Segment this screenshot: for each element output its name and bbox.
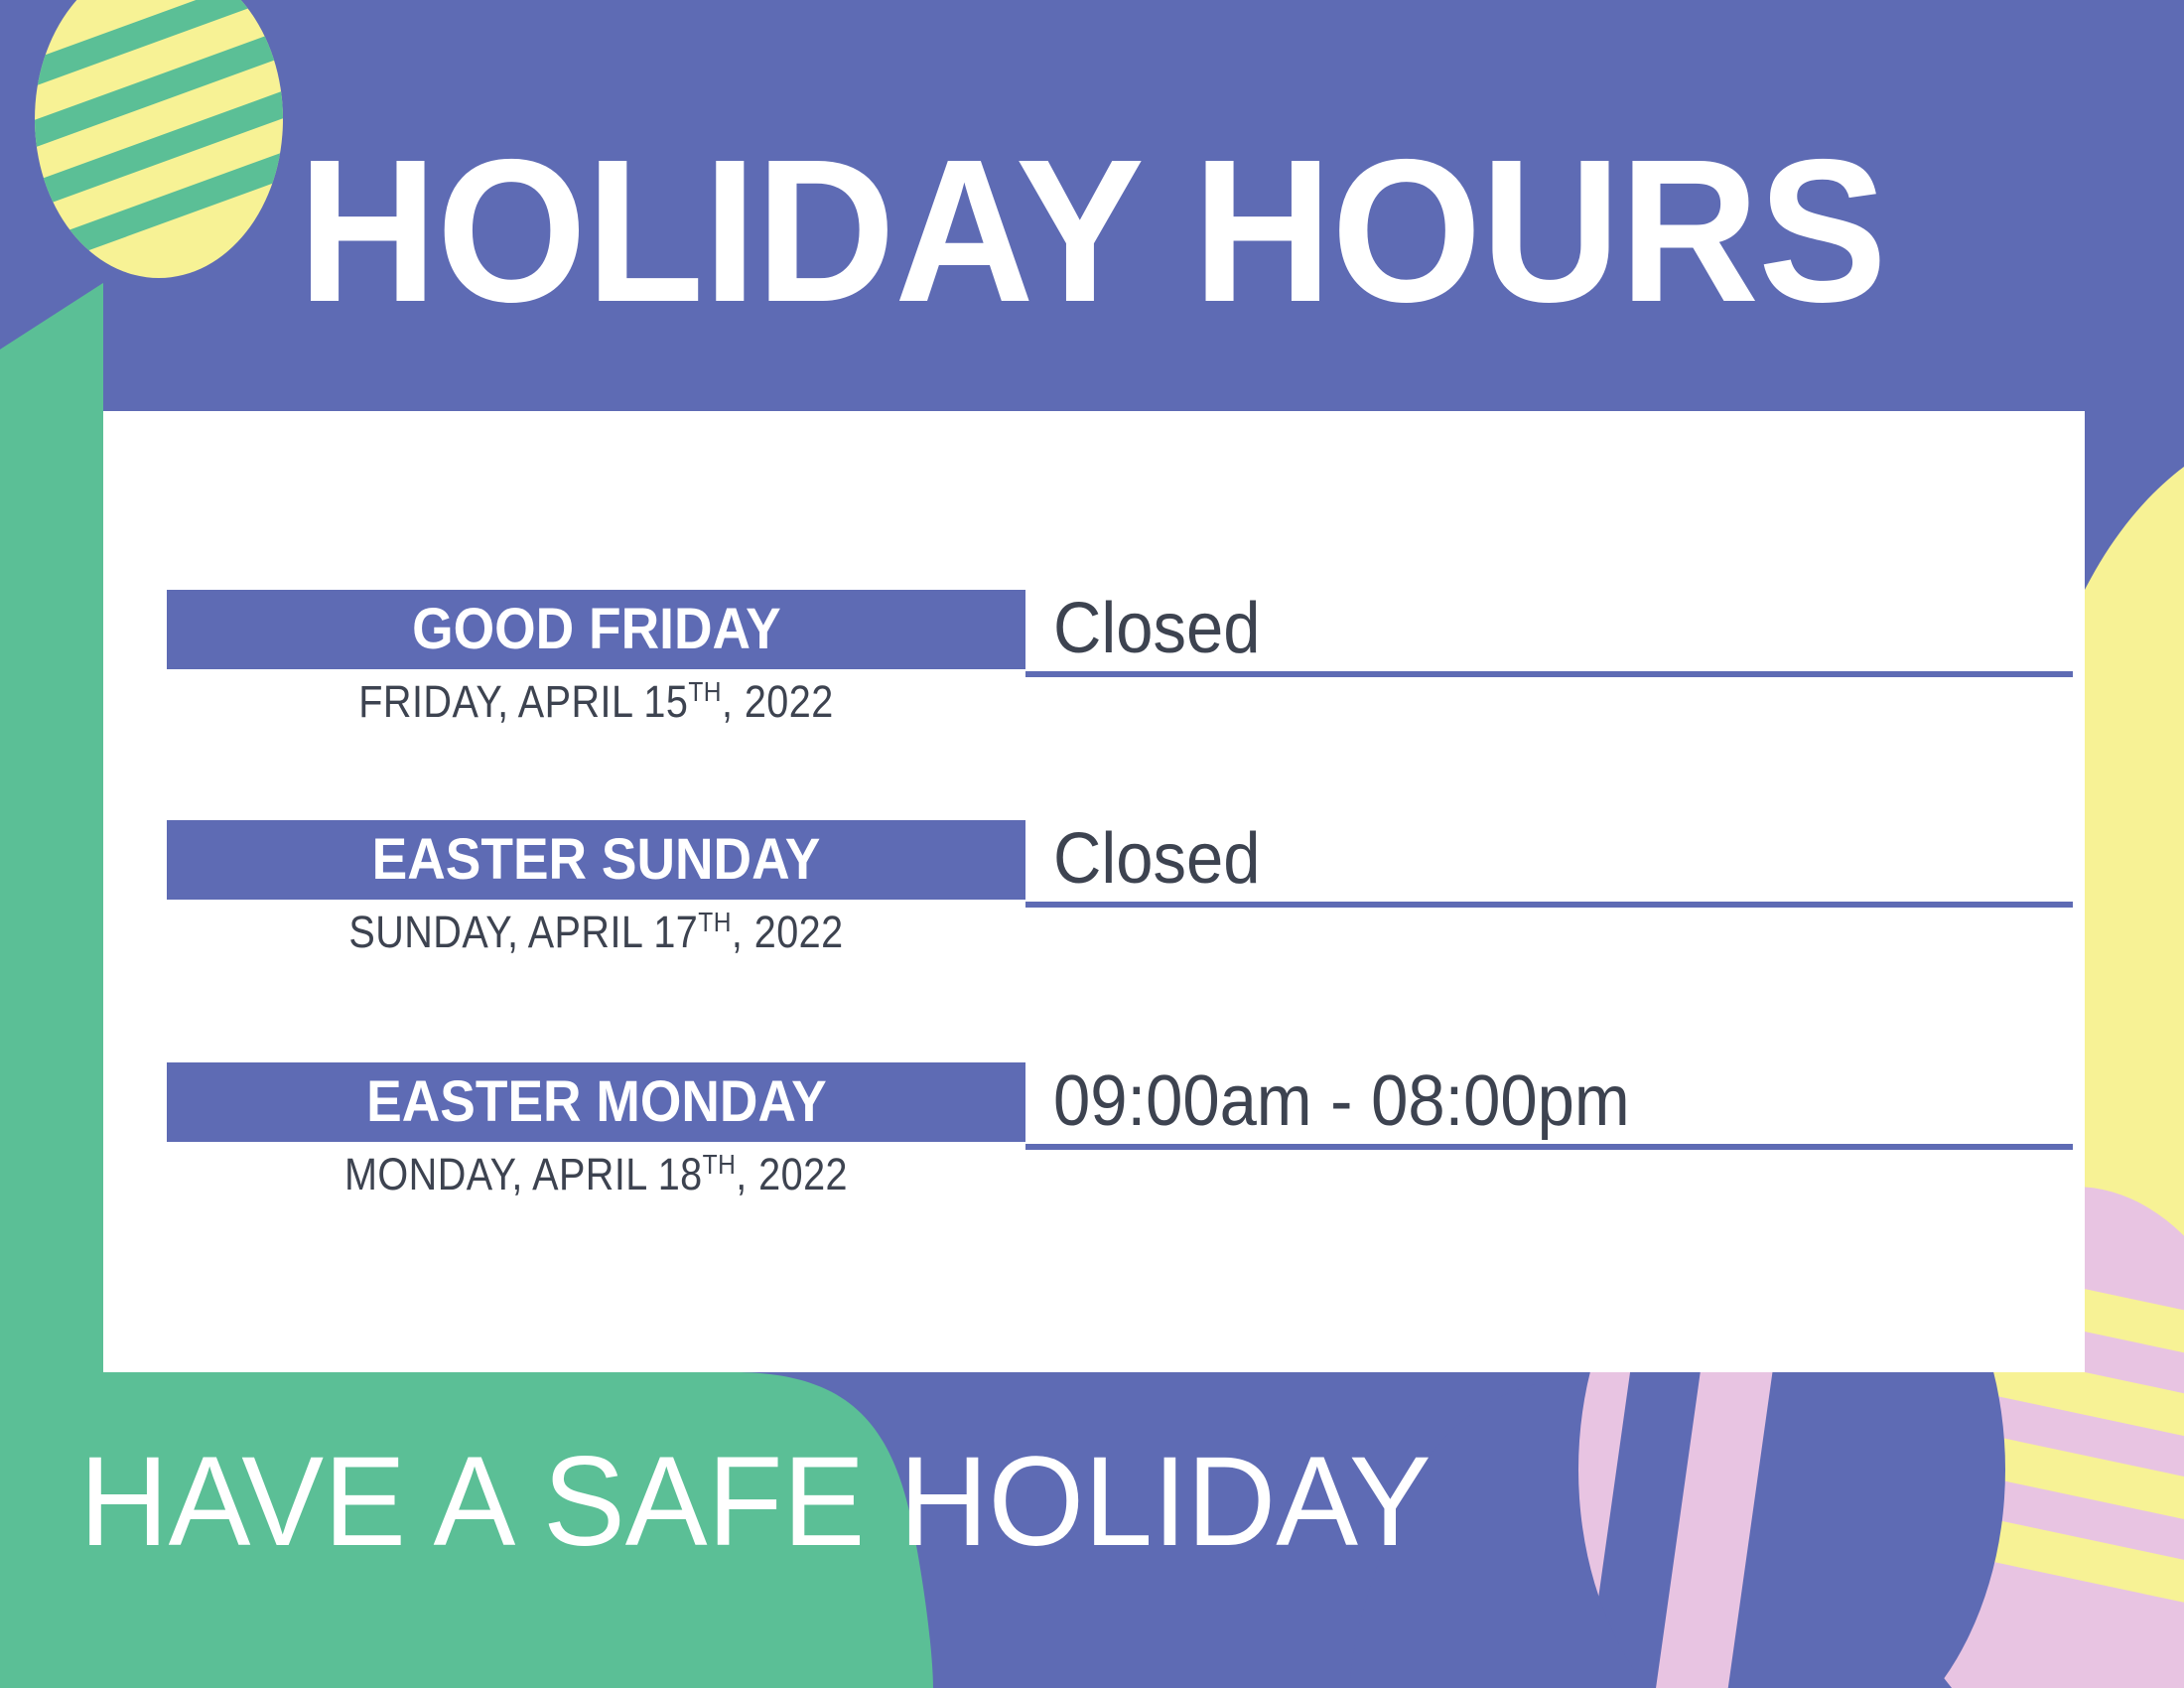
page-title: HOLIDAY HOURS: [298, 117, 1826, 346]
day-date: SUNDAY, APRIL 17TH, 2022: [218, 904, 974, 961]
day-date: MONDAY, APRIL 18TH, 2022: [218, 1146, 974, 1203]
day-hours-underline: [1025, 1144, 2073, 1150]
day-date-suffix: , 2022: [736, 1149, 848, 1199]
day-hours-underline: [1025, 671, 2073, 677]
day-label-text: GOOD FRIDAY: [412, 599, 781, 660]
day-hours-underline: [1025, 902, 2073, 908]
schedule-row: EASTER SUNDAY SUNDAY, APRIL 17TH, 2022 C…: [103, 820, 2085, 1049]
day-date-prefix: MONDAY, APRIL 18: [344, 1149, 703, 1199]
schedule-rows: GOOD FRIDAY FRIDAY, APRIL 15TH, 2022 Clo…: [103, 411, 2085, 1372]
day-hours-field: Closed: [1025, 816, 2073, 908]
day-date-prefix: FRIDAY, APRIL 15: [358, 676, 688, 727]
day-hours-text: 09:00am - 08:00pm: [1053, 1062, 1630, 1140]
day-label-bar: EASTER MONDAY: [167, 1062, 1025, 1142]
footer-message: HAVE A SAFE HOLIDAY: [79, 1433, 1581, 1572]
day-label-text: EASTER MONDAY: [366, 1071, 827, 1133]
schedule-row: GOOD FRIDAY FRIDAY, APRIL 15TH, 2022 Clo…: [103, 590, 2085, 818]
green-left-wedge: [0, 283, 103, 1372]
day-date: FRIDAY, APRIL 15TH, 2022: [218, 673, 974, 731]
day-label-bar: GOOD FRIDAY: [167, 590, 1025, 669]
day-hours-field: 09:00am - 08:00pm: [1025, 1058, 2073, 1150]
day-date-prefix: SUNDAY, APRIL 17: [348, 907, 698, 957]
day-date-suffix: , 2022: [722, 676, 834, 727]
day-hours-text: Closed: [1053, 820, 1260, 898]
day-date-ordinal: TH: [703, 1149, 737, 1180]
day-label-bar: EASTER SUNDAY: [167, 820, 1025, 900]
day-date-ordinal: TH: [688, 676, 722, 707]
schedule-row: EASTER MONDAY MONDAY, APRIL 18TH, 2022 0…: [103, 1062, 2085, 1291]
day-hours-text: Closed: [1053, 590, 1260, 667]
day-hours-field: Closed: [1025, 586, 2073, 677]
holiday-hours-poster: HOLIDAY HOURS GOOD FRIDAY FRIDAY, APRIL …: [0, 0, 2184, 1688]
day-label-text: EASTER SUNDAY: [372, 829, 821, 891]
day-date-ordinal: TH: [698, 907, 732, 937]
day-date-suffix: , 2022: [732, 907, 844, 957]
